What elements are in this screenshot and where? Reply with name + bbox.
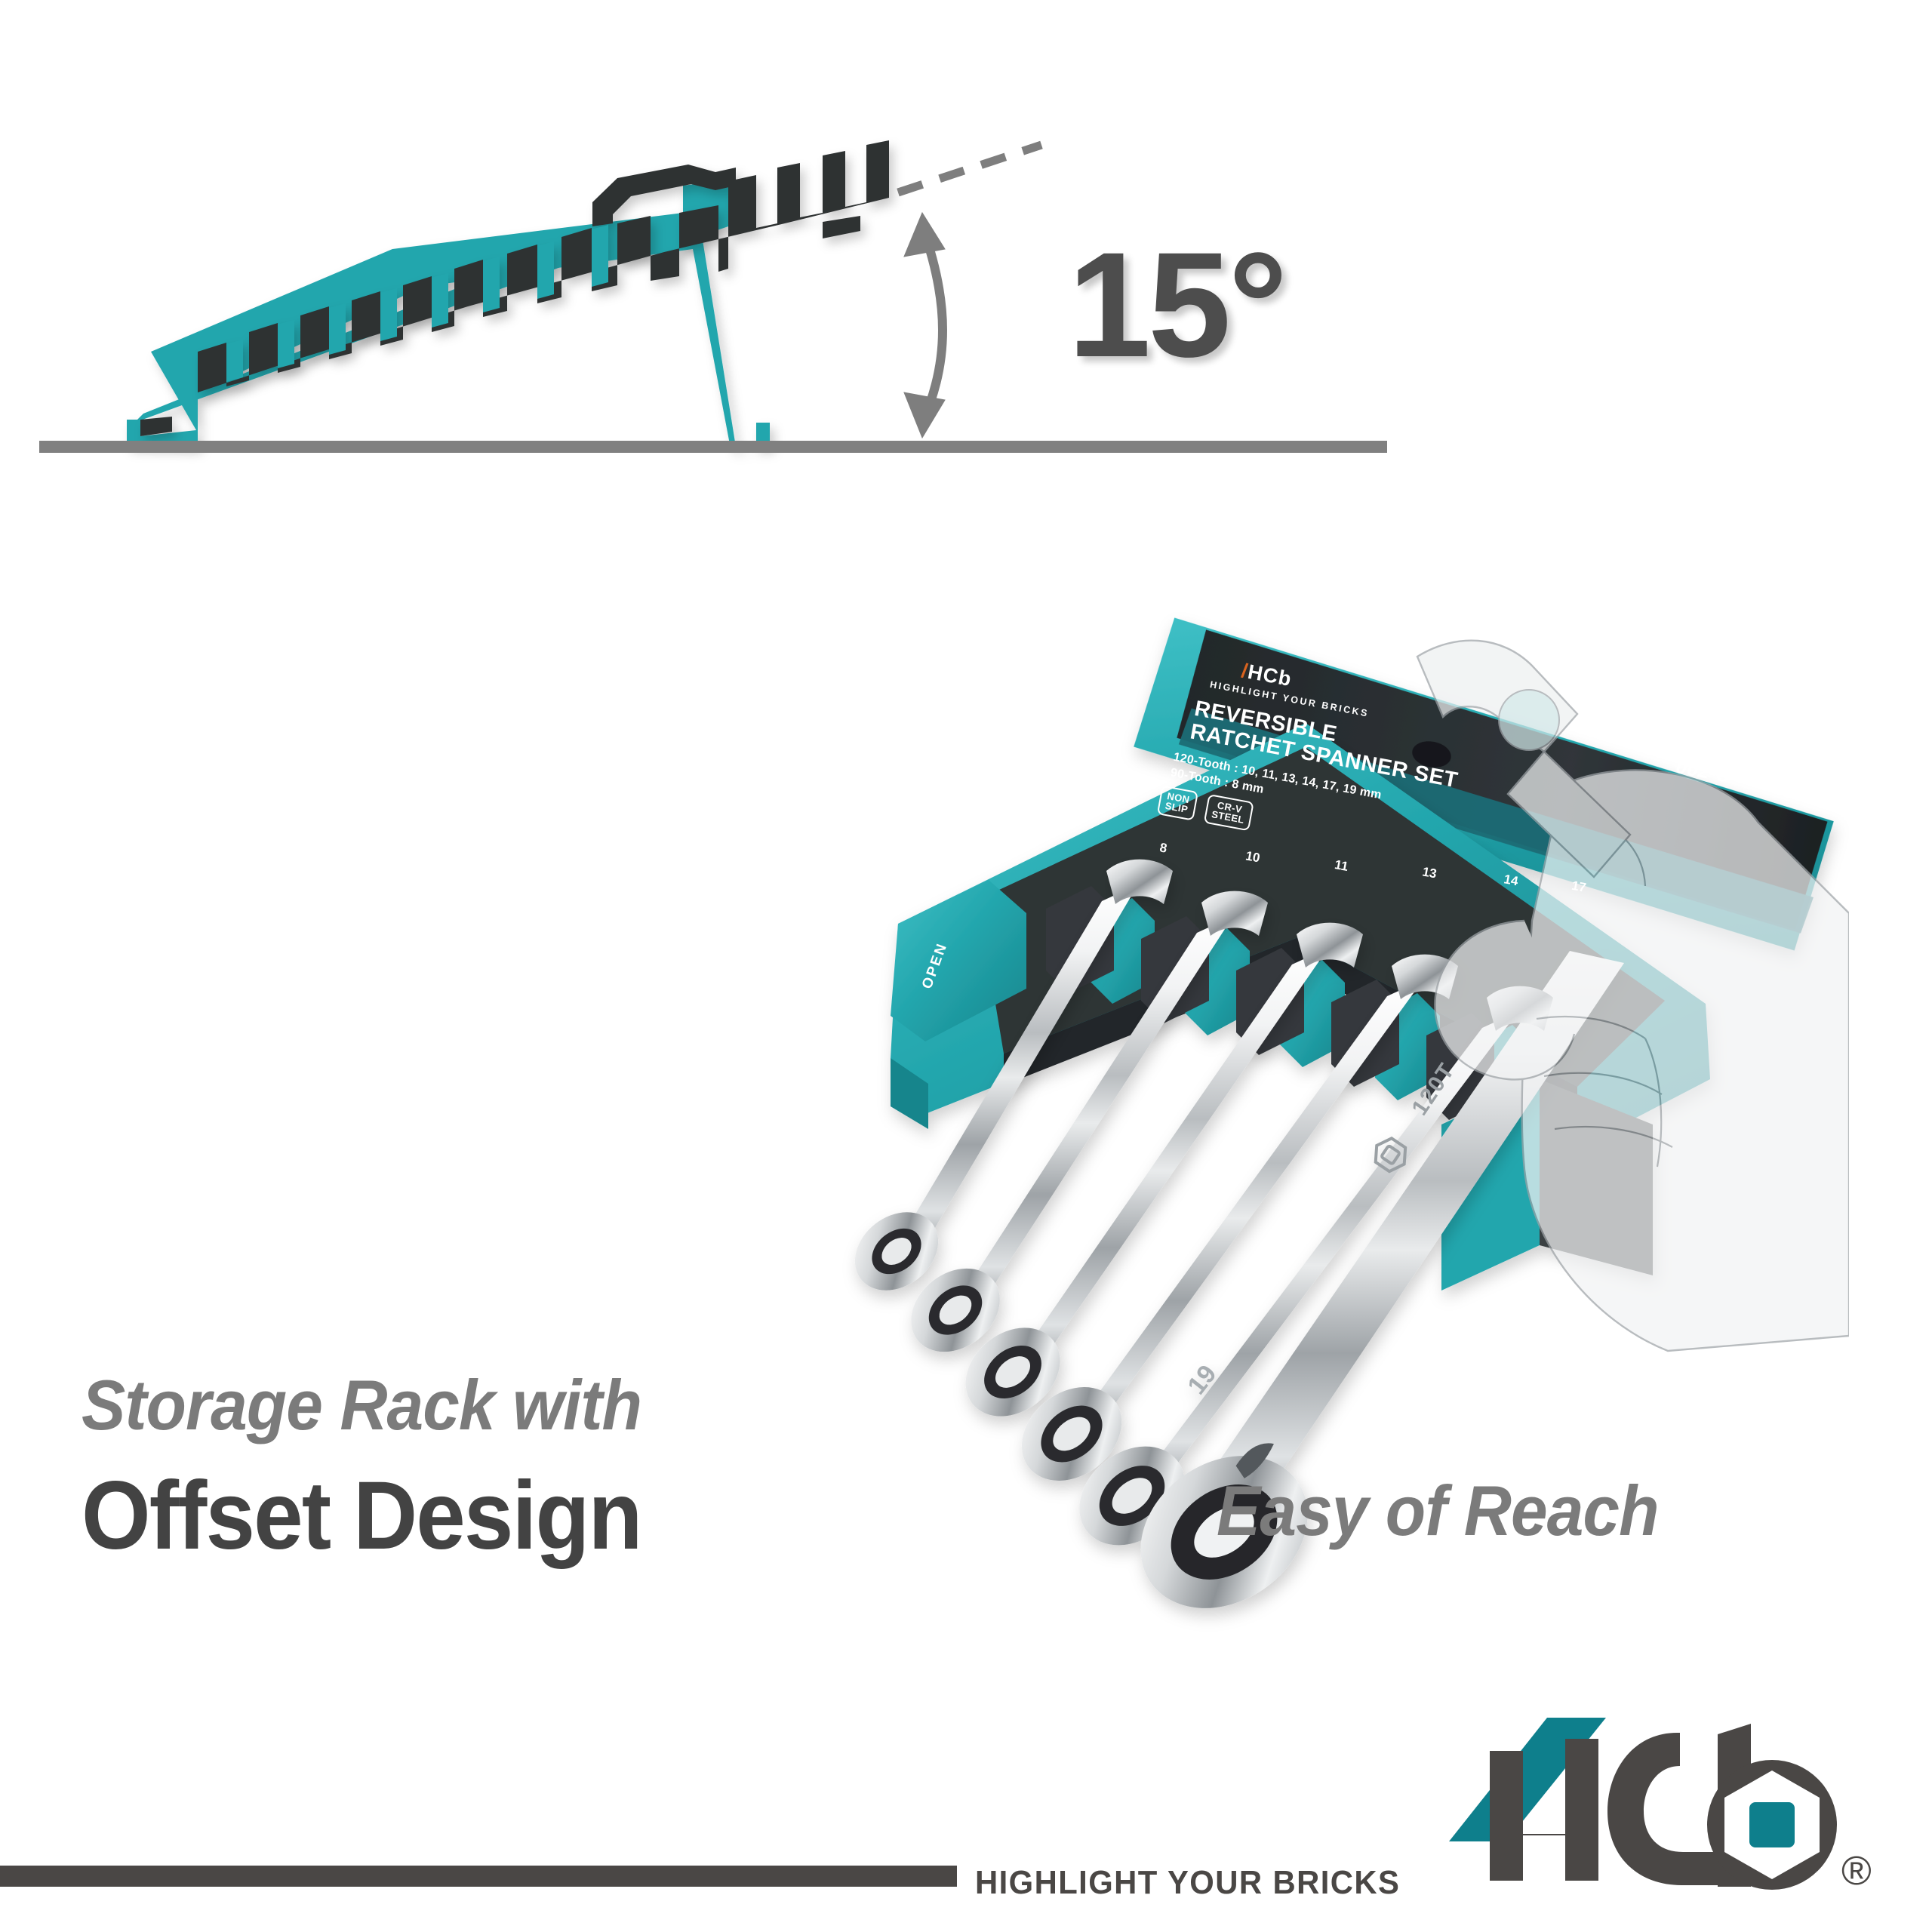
piece-count-unit: PC bbox=[1705, 715, 1743, 748]
angle-arc-arrow bbox=[904, 213, 945, 438]
footer-divider-bar bbox=[0, 1866, 957, 1887]
rack-comb-black bbox=[140, 140, 889, 436]
package-piece-count: 7PC bbox=[1675, 683, 1749, 755]
registered-trademark-mark: ® bbox=[1841, 1850, 1872, 1891]
caption-easy-of-reach: Easy of Reach bbox=[1217, 1470, 1659, 1552]
angle-value-label: 15° bbox=[1068, 230, 1284, 380]
dashed-reference-line bbox=[898, 145, 1041, 192]
logo-socket-ring bbox=[1707, 1760, 1837, 1890]
footer-tagline: HIGHLIGHT YOUR BRICKS bbox=[975, 1864, 1400, 1902]
caption-storage-rack-with: Storage Rack with bbox=[82, 1364, 641, 1446]
caption-offset-design: Offset Design bbox=[82, 1460, 641, 1571]
hcb-logo bbox=[1417, 1701, 1840, 1927]
logo-letter-c bbox=[1607, 1733, 1719, 1885]
angle-callout-diagram: 15° bbox=[0, 0, 1932, 483]
